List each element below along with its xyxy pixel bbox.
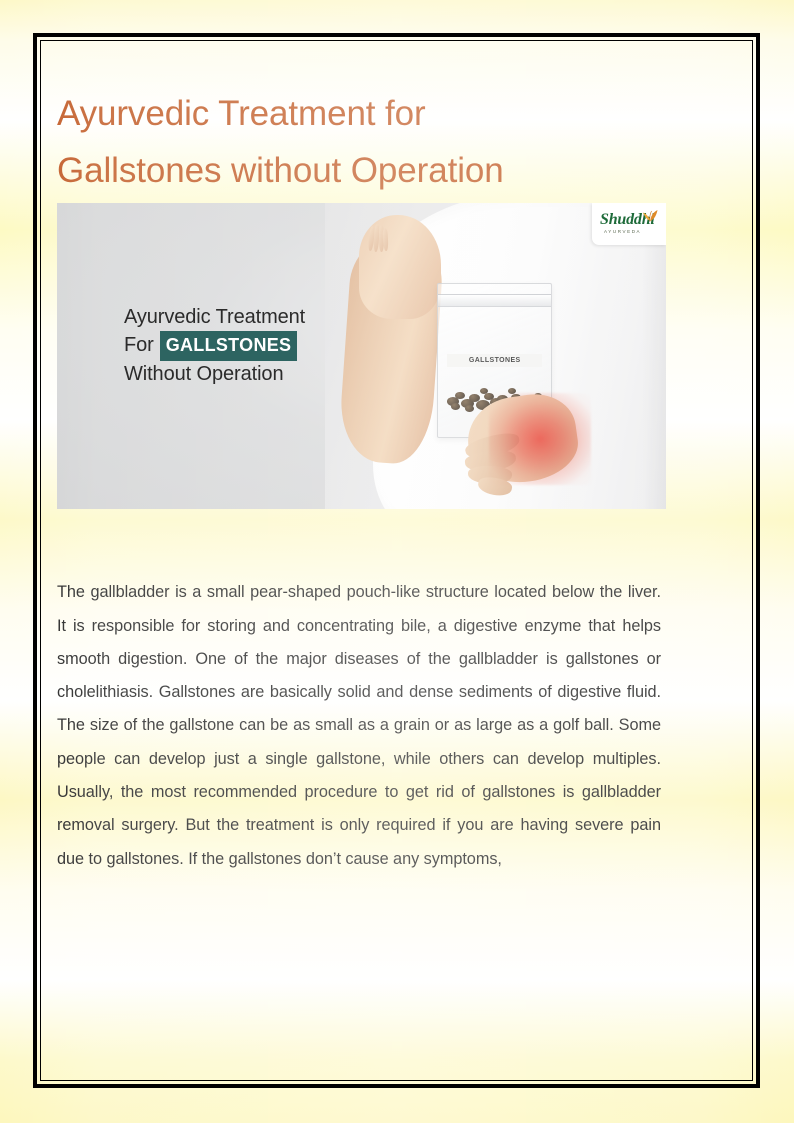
banner-headline-line-2: For GALLSTONES [124, 331, 305, 360]
document-page: Ayurvedic Treatment for Gallstones witho… [0, 0, 794, 1123]
brand-logo-tagline: AYURVEDA [604, 229, 641, 234]
page-content [40, 40, 753, 1081]
banner-headline-prefix: For [124, 332, 154, 359]
banner-headline-line-3: Without Operation [124, 361, 305, 388]
banner-headline: Ayurvedic Treatment For GALLSTONES Witho… [124, 304, 305, 388]
brand-logo: Shuddhi AYURVEDA [592, 203, 666, 245]
banner-headline-line-1: Ayurvedic Treatment [124, 304, 305, 331]
banner-headline-highlight: GALLSTONES [160, 331, 298, 360]
leaf-icon [642, 208, 659, 222]
